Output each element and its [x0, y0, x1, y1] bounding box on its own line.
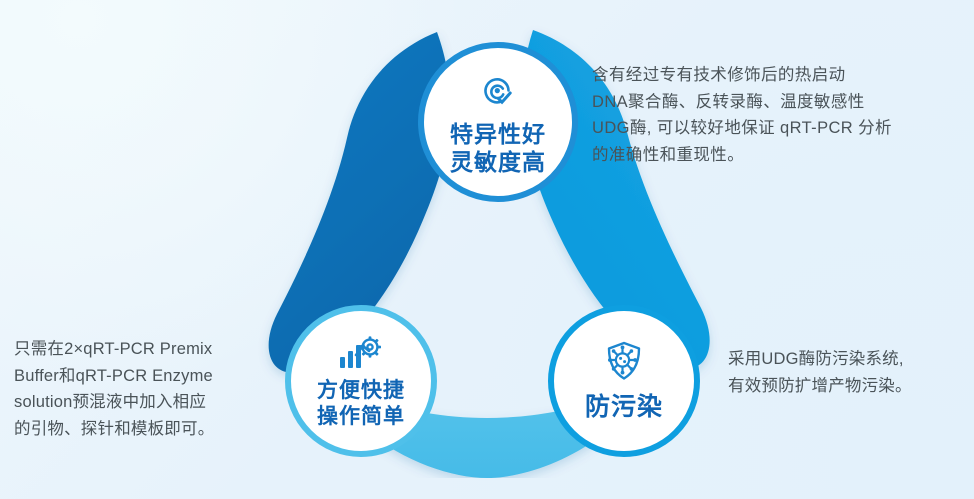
caption-line-1: 特异性好 — [450, 120, 546, 148]
desc-line: 只需在2×qRT-PCR Premix — [14, 336, 278, 363]
desc-line: 采用UDG酶防污染系统, — [728, 346, 964, 373]
caption-line-1: 防污染 — [585, 392, 663, 423]
bar-chart-gear-icon — [337, 333, 385, 373]
desc-line: 有效预防扩增产物污染。 — [728, 373, 964, 400]
feature-node-specificity[interactable]: 特异性好 灵敏度高 — [418, 42, 578, 202]
description-specificity: 含有经过专有技术修饰后的热启动 DNA聚合酶、反转录酶、温度敏感性 UDG酶, … — [592, 62, 960, 169]
desc-line: Buffer和qRT-PCR Enzyme — [14, 363, 278, 390]
caption-line-1: 方便快捷 — [317, 378, 405, 404]
feature-caption: 特异性好 灵敏度高 — [450, 120, 546, 176]
feature-node-anticontamination[interactable]: 防污染 — [548, 305, 700, 457]
caption-line-2: 操作简单 — [317, 404, 405, 430]
desc-line: solution预混液中加入相应 — [14, 389, 278, 416]
desc-line: 含有经过专有技术修饰后的热启动 — [592, 62, 960, 89]
feature-caption: 方便快捷 操作简单 — [317, 378, 405, 429]
desc-line: UDG酶, 可以较好地保证 qRT-PCR 分析 — [592, 115, 960, 142]
infographic-canvas: 特异性好 灵敏度高 — [0, 0, 974, 499]
description-convenience: 只需在2×qRT-PCR Premix Buffer和qRT-PCR Enzym… — [14, 336, 278, 443]
desc-line: DNA聚合酶、反转录酶、温度敏感性 — [592, 89, 960, 116]
desc-line: 的引物、探针和模板即可。 — [14, 416, 278, 443]
description-anticontamination: 采用UDG酶防污染系统, 有效预防扩增产物污染。 — [728, 346, 964, 399]
feature-node-convenience[interactable]: 方便快捷 操作简单 — [285, 305, 437, 457]
shield-virus-icon — [602, 339, 646, 385]
feature-caption: 防污染 — [585, 392, 663, 423]
caption-line-2: 灵敏度高 — [450, 148, 546, 176]
desc-line: 的准确性和重现性。 — [592, 142, 960, 169]
target-check-icon — [475, 68, 521, 114]
